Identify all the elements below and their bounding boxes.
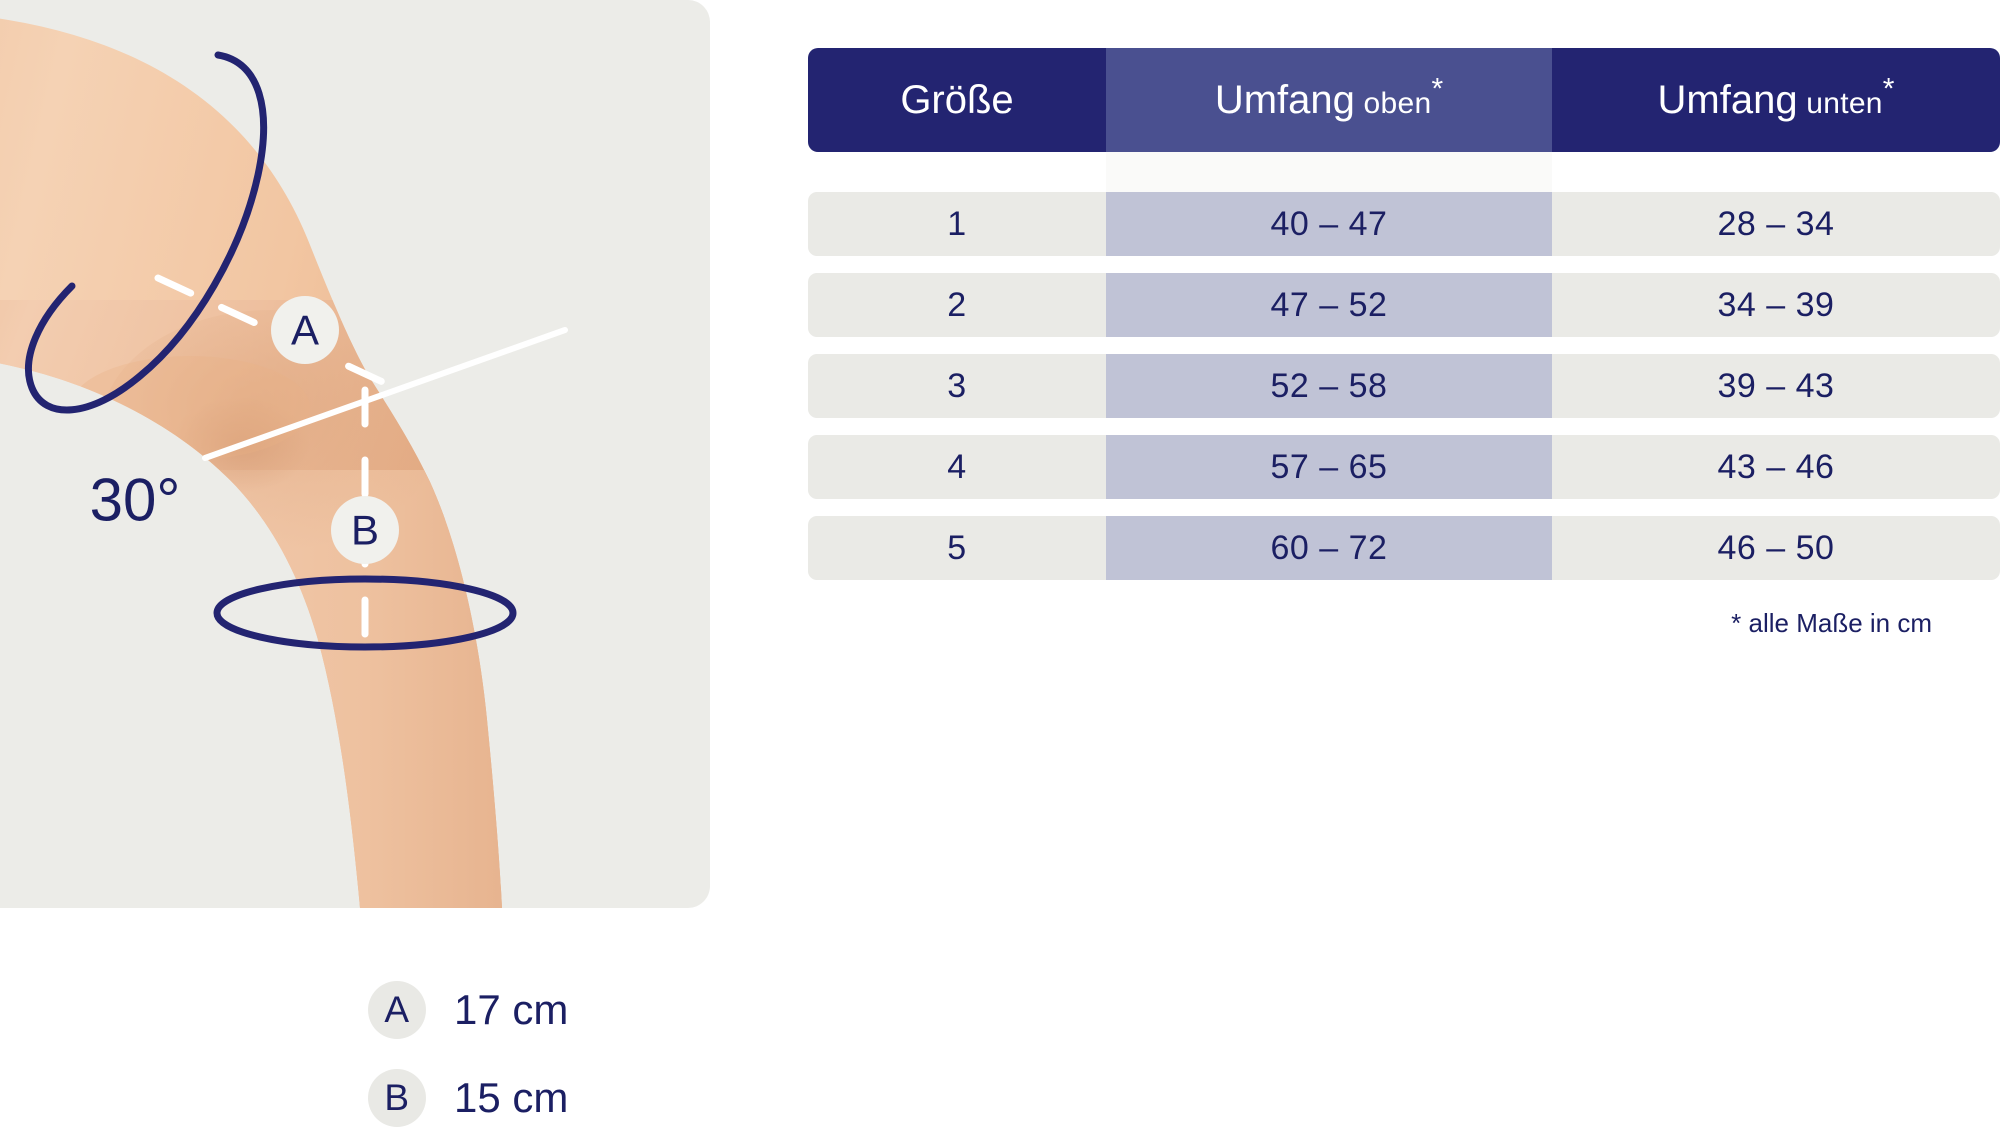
legend-value-b: 15 cm (454, 1074, 568, 1122)
cell-bottom: 43 – 46 (1552, 435, 2000, 499)
header-gap-size (808, 152, 1106, 192)
table-row: 4 57 – 65 43 – 46 (808, 435, 2000, 499)
cell-top: 40 – 47 (1106, 192, 1552, 256)
cell-top-value: 57 – 65 (1106, 435, 1552, 499)
cell-top-value: 47 – 52 (1106, 273, 1552, 337)
column-header-top-star: * (1431, 73, 1443, 106)
cell-top: 60 – 72 (1106, 516, 1552, 580)
column-header-size: Größe (808, 48, 1106, 152)
column-header-top-main: Umfang (1215, 78, 1355, 122)
column-header-top-sub: oben (1364, 87, 1432, 120)
cell-size-value: 3 (808, 354, 1106, 418)
table-row: 5 60 – 72 46 – 50 (808, 516, 2000, 580)
header-gap-top (1106, 152, 1552, 192)
cell-size: 1 (808, 192, 1106, 256)
cell-bottom-value: 46 – 50 (1552, 516, 2000, 580)
column-header-bottom-main: Umfang (1658, 78, 1798, 122)
marker-b: B (331, 496, 399, 564)
cell-bottom: 39 – 43 (1552, 354, 2000, 418)
cell-bottom-value: 39 – 43 (1552, 354, 2000, 418)
legend-badge-b: B (368, 1069, 426, 1127)
cell-bottom-value: 28 – 34 (1552, 192, 2000, 256)
cell-size: 5 (808, 516, 1106, 580)
column-header-top: Umfang oben* (1106, 48, 1552, 152)
table-row: 2 47 – 52 34 – 39 (808, 273, 2000, 337)
cell-top-value: 40 – 47 (1106, 192, 1552, 256)
marker-b-label: B (351, 507, 379, 554)
header-gap-bottom (1552, 152, 2000, 192)
table-row: 1 40 – 47 28 – 34 (808, 192, 2000, 256)
cell-top: 52 – 58 (1106, 354, 1552, 418)
table-header-row: Größe Umfang oben* Umfang unten* (808, 48, 2000, 152)
marker-a: A (271, 296, 339, 364)
cell-bottom: 34 – 39 (1552, 273, 2000, 337)
cell-size: 3 (808, 354, 1106, 418)
knee-illustration-panel: A B 30° (0, 0, 710, 908)
column-header-bottom-star: * (1883, 73, 1895, 106)
legend-item-a: A 17 cm (368, 966, 688, 1054)
cell-top-value: 60 – 72 (1106, 516, 1552, 580)
leg-silhouette (0, 0, 710, 908)
cell-size: 4 (808, 435, 1106, 499)
angle-label: 30° (90, 467, 181, 534)
cell-bottom-value: 34 – 39 (1552, 273, 2000, 337)
cell-top-value: 52 – 58 (1106, 354, 1552, 418)
cell-bottom-value: 43 – 46 (1552, 435, 2000, 499)
cell-top: 47 – 52 (1106, 273, 1552, 337)
legend-value-a: 17 cm (454, 986, 568, 1034)
cell-bottom: 28 – 34 (1552, 192, 2000, 256)
cell-size-value: 5 (808, 516, 1106, 580)
cell-size: 2 (808, 273, 1106, 337)
table-footnote: * alle Maße in cm (808, 608, 2000, 639)
legend-badge-a: A (368, 981, 426, 1039)
cell-size-value: 2 (808, 273, 1106, 337)
cell-bottom: 46 – 50 (1552, 516, 2000, 580)
table-row: 3 52 – 58 39 – 43 (808, 354, 2000, 418)
column-header-bottom: Umfang unten* (1552, 48, 2000, 152)
table-header-gap (808, 152, 2000, 192)
cell-top: 57 – 65 (1106, 435, 1552, 499)
cell-size-value: 4 (808, 435, 1106, 499)
column-header-bottom-sub: unten (1806, 87, 1883, 120)
size-table: Größe Umfang oben* Umfang unten* 1 40 – … (808, 48, 2000, 639)
marker-a-label: A (291, 307, 319, 354)
measurement-legend: A 17 cm B 15 cm (368, 966, 688, 1142)
cell-size-value: 1 (808, 192, 1106, 256)
legend-item-b: B 15 cm (368, 1054, 688, 1142)
knee-diagram: A B 30° (0, 0, 710, 908)
